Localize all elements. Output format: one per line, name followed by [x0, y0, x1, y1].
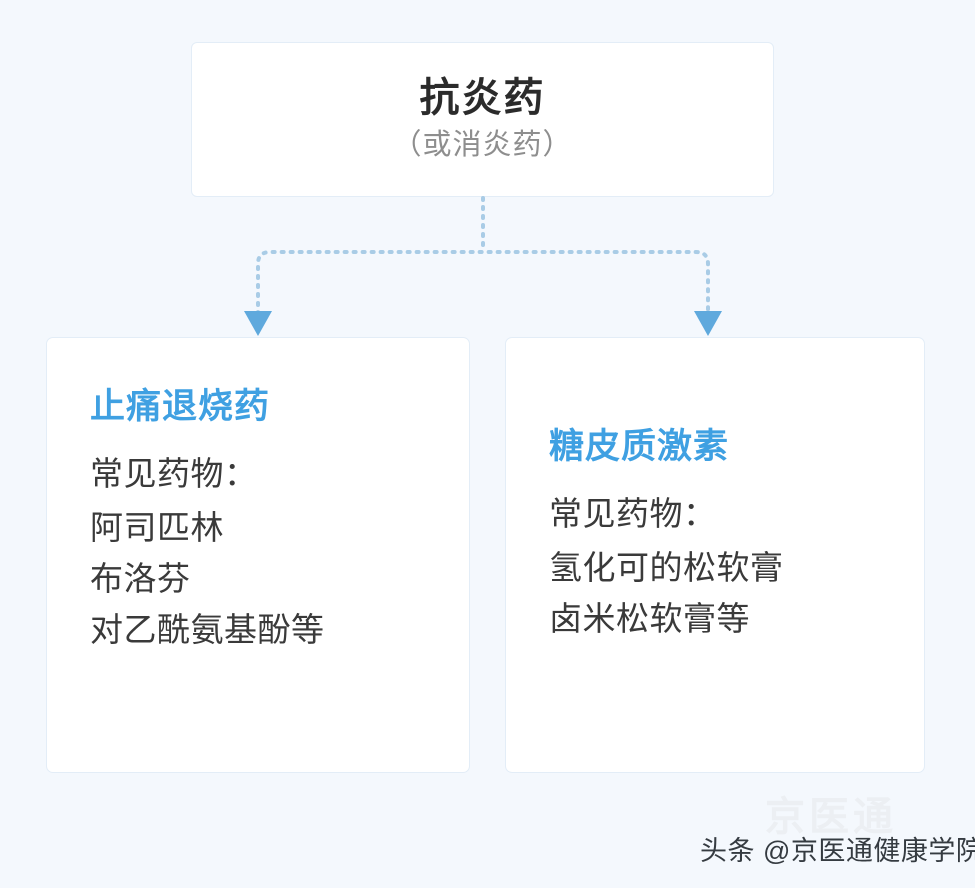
branch-heading-corticosteroid: 糖皮质激素: [549, 426, 906, 468]
branch-lead-corticosteroid: 常见药物：: [549, 492, 906, 536]
arrowhead-right: [694, 311, 722, 336]
list-item: 阿司匹林: [90, 502, 451, 553]
footer-credit: 头条 @京医通健康学院: [700, 835, 975, 867]
root-node-title: 抗炎药: [420, 74, 546, 123]
branch-card-analgesic: 止痛退烧药 常见药物： 阿司匹林 布洛芬 对乙酰氨基酚等: [46, 337, 470, 773]
branch-content-analgesic: 止痛退烧药 常见药物： 阿司匹林 布洛芬 对乙酰氨基酚等: [47, 338, 469, 655]
connector-bus: [258, 252, 708, 314]
root-node-card: 抗炎药 （或消炎药）: [191, 42, 774, 197]
branch-lead-analgesic: 常见药物：: [90, 452, 451, 496]
branch-content-corticosteroid: 糖皮质激素 常见药物： 氢化可的松软膏 卤米松软膏等: [506, 338, 924, 644]
brand-watermark: 京医通: [765, 797, 897, 837]
list-item: 布洛芬: [90, 553, 451, 604]
drug-list-analgesic: 阿司匹林 布洛芬 对乙酰氨基酚等: [90, 502, 451, 655]
diagram-canvas: 抗炎药 （或消炎药） 止痛退烧药 常见药物： 阿司匹林 布洛芬 对乙酰氨基酚等 …: [0, 0, 975, 888]
root-node-subtitle: （或消炎药）: [392, 127, 572, 165]
branch-card-corticosteroid: 糖皮质激素 常见药物： 氢化可的松软膏 卤米松软膏等: [505, 337, 925, 773]
branch-heading-analgesic: 止痛退烧药: [90, 386, 451, 428]
arrowhead-left: [244, 311, 272, 336]
list-item: 对乙酰氨基酚等: [90, 604, 451, 655]
list-item: 氢化可的松软膏: [549, 542, 906, 593]
list-item: 卤米松软膏等: [549, 593, 906, 644]
drug-list-corticosteroid: 氢化可的松软膏 卤米松软膏等: [549, 542, 906, 644]
